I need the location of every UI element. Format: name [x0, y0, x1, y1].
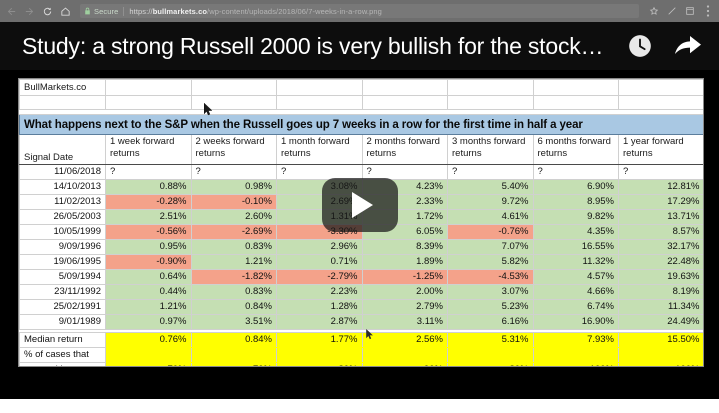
- return-cell-r9-c2: 1.28%: [277, 300, 363, 315]
- column-header-7: 1 year forwardreturns: [619, 135, 705, 165]
- return-cell-r3-c1: 2.60%: [191, 210, 277, 225]
- forward-arrow-icon[interactable]: [23, 5, 36, 18]
- percent-positive-row-line2: are positive70%70%80%90%80%100%100%: [20, 363, 705, 368]
- signal-date: 10/05/1999: [20, 225, 106, 240]
- empty-cell: [362, 80, 448, 96]
- percent-positive-value-3: 90%: [362, 363, 448, 368]
- table-row: 5/09/19940.64%-1.82%-2.79%-1.25%-4.53%4.…: [20, 270, 705, 285]
- return-cell-r0-c4: ?: [448, 165, 534, 180]
- column-header-1: 1 week forwardreturns: [106, 135, 192, 165]
- percent-positive-value-0: 70%: [106, 363, 192, 368]
- return-cell-r4-c1: -2.69%: [191, 225, 277, 240]
- omnibox-divider: [123, 7, 124, 16]
- signal-date: 26/05/2003: [20, 210, 106, 225]
- back-arrow-icon[interactable]: [5, 5, 18, 18]
- median-value-1: 0.84%: [191, 333, 277, 348]
- url-scheme: https://: [129, 7, 152, 16]
- median-value-2: 1.77%: [277, 333, 363, 348]
- return-cell-r0-c1: ?: [191, 165, 277, 180]
- clock-watch-later-icon[interactable]: [627, 33, 653, 59]
- return-cell-r8-c3: 2.00%: [362, 285, 448, 300]
- return-cell-r1-c0: 0.88%: [106, 180, 192, 195]
- return-cell-r1-c1: 0.98%: [191, 180, 277, 195]
- return-cell-r1-c6: 12.81%: [619, 180, 705, 195]
- url-text: https://bullmarkets.co/wp-content/upload…: [129, 7, 382, 16]
- brand-label: BullMarkets.co: [20, 80, 106, 96]
- column-header-6: 6 months forwardreturns: [533, 135, 619, 165]
- play-button[interactable]: [322, 178, 398, 232]
- return-cell-r7-c4: -4.53%: [448, 270, 534, 285]
- return-cell-r6-c3: 1.89%: [362, 255, 448, 270]
- empty-cell: [106, 80, 192, 96]
- return-cell-r0-c6: ?: [619, 165, 705, 180]
- return-cell-r5-c0: 0.95%: [106, 240, 192, 255]
- return-cell-r9-c1: 0.84%: [191, 300, 277, 315]
- return-cell-r4-c4: -0.76%: [448, 225, 534, 240]
- percent-positive-value-2: 80%: [277, 363, 363, 368]
- blank-row: [20, 96, 705, 110]
- percent-spacer-4: [448, 348, 534, 363]
- video-title-bar: Study: a strong Russell 2000 is very bul…: [0, 22, 719, 70]
- table-row: 9/01/19890.97%3.51%2.87%3.11%6.16%16.90%…: [20, 315, 705, 330]
- column-header-4: 2 months forwardreturns: [362, 135, 448, 165]
- return-cell-r10-c1: 3.51%: [191, 315, 277, 330]
- return-cell-r6-c1: 1.21%: [191, 255, 277, 270]
- signal-date: 5/09/1994: [20, 270, 106, 285]
- percent-positive-value-1: 70%: [191, 363, 277, 368]
- return-cell-r8-c6: 8.19%: [619, 285, 705, 300]
- return-cell-r5-c3: 8.39%: [362, 240, 448, 255]
- empty-cell: [191, 80, 277, 96]
- table-title: What happens next to the S&P when the Ru…: [20, 115, 705, 135]
- percent-positive-value-4: 80%: [448, 363, 534, 368]
- percent-spacer-3: [362, 348, 448, 363]
- return-cell-r4-c5: 4.35%: [533, 225, 619, 240]
- table-row: 23/11/19920.44%0.83%2.23%2.00%3.07%4.66%…: [20, 285, 705, 300]
- column-header-2: 2 weeks forwardreturns: [191, 135, 277, 165]
- return-cell-r9-c4: 5.23%: [448, 300, 534, 315]
- percent-spacer-2: [277, 348, 363, 363]
- empty-cell: [619, 80, 705, 96]
- return-cell-r9-c5: 6.74%: [533, 300, 619, 315]
- return-cell-r6-c0: -0.90%: [106, 255, 192, 270]
- signal-date: 25/02/1991: [20, 300, 106, 315]
- median-value-0: 0.76%: [106, 333, 192, 348]
- median-value-4: 5.31%: [448, 333, 534, 348]
- column-header-5: 3 months forwardreturns: [448, 135, 534, 165]
- star-bookmark-icon[interactable]: [648, 5, 660, 17]
- signal-date: 9/01/1989: [20, 315, 106, 330]
- return-cell-r2-c0: -0.28%: [106, 195, 192, 210]
- return-cell-r7-c1: -1.82%: [191, 270, 277, 285]
- empty-cell: [619, 96, 705, 110]
- return-cell-r2-c5: 8.95%: [533, 195, 619, 210]
- return-cell-r7-c6: 19.63%: [619, 270, 705, 285]
- address-bar[interactable]: Secure https://bullmarkets.co/wp-content…: [80, 4, 639, 18]
- return-cell-r3-c6: 13.71%: [619, 210, 705, 225]
- return-cell-r8-c2: 2.23%: [277, 285, 363, 300]
- share-arrow-icon[interactable]: [673, 33, 703, 59]
- return-cell-r8-c5: 4.66%: [533, 285, 619, 300]
- empty-cell: [277, 96, 363, 110]
- return-cell-r10-c6: 24.49%: [619, 315, 705, 330]
- return-cell-r1-c4: 5.40%: [448, 180, 534, 195]
- return-cell-r10-c5: 16.90%: [533, 315, 619, 330]
- youtube-video-page: Secure https://bullmarkets.co/wp-content…: [0, 0, 719, 413]
- return-cell-r7-c2: -2.79%: [277, 270, 363, 285]
- column-header-0: Signal Date: [20, 135, 106, 165]
- return-cell-r5-c2: 2.96%: [277, 240, 363, 255]
- median-value-5: 7.93%: [533, 333, 619, 348]
- return-cell-r1-c5: 6.90%: [533, 180, 619, 195]
- empty-cell: [20, 96, 106, 110]
- percent-spacer-0: [106, 348, 192, 363]
- signal-date: 9/09/1996: [20, 240, 106, 255]
- table-row: 19/06/1995-0.90%1.21%0.71%1.89%5.82%11.3…: [20, 255, 705, 270]
- return-cell-r5-c1: 0.83%: [191, 240, 277, 255]
- signal-date: 14/10/2013: [20, 180, 106, 195]
- return-cell-r2-c1: -0.10%: [191, 195, 277, 210]
- return-cell-r5-c6: 32.17%: [619, 240, 705, 255]
- table-title-row: What happens next to the S&P when the Ru…: [20, 115, 705, 135]
- table-row: 9/09/19960.95%0.83%2.96%8.39%7.07%16.55%…: [20, 240, 705, 255]
- percent-spacer-1: [191, 348, 277, 363]
- return-cell-r4-c0: -0.56%: [106, 225, 192, 240]
- lock-icon: [84, 4, 91, 18]
- frame-left-edge: [0, 70, 18, 399]
- median-value-6: 15.50%: [619, 333, 705, 348]
- median-return-label: Median return: [20, 333, 106, 348]
- return-cell-r6-c4: 5.82%: [448, 255, 534, 270]
- return-cell-r0-c0: ?: [106, 165, 192, 180]
- empty-cell: [448, 96, 534, 110]
- column-header-3: 1 month forwardreturns: [277, 135, 363, 165]
- empty-cell: [448, 80, 534, 96]
- secure-label: Secure: [94, 7, 118, 16]
- return-cell-r10-c2: 2.87%: [277, 315, 363, 330]
- percent-positive-label-line2: are positive: [20, 363, 106, 368]
- return-cell-r10-c0: 0.97%: [106, 315, 192, 330]
- three-dot-menu-icon[interactable]: [702, 5, 714, 17]
- empty-cell: [277, 80, 363, 96]
- empty-cell: [191, 96, 277, 110]
- video-actions: [613, 33, 703, 59]
- signal-date: 11/06/2018: [20, 165, 106, 180]
- video-title: Study: a strong Russell 2000 is very bul…: [22, 33, 613, 60]
- empty-cell: [533, 96, 619, 110]
- return-cell-r8-c1: 0.83%: [191, 285, 277, 300]
- return-cell-r2-c4: 9.72%: [448, 195, 534, 210]
- empty-cell: [362, 96, 448, 110]
- url-host: bullmarkets.co: [153, 7, 207, 16]
- percent-spacer-6: [619, 348, 705, 363]
- page-bottom-strip: [0, 399, 719, 413]
- return-cell-r3-c4: 4.61%: [448, 210, 534, 225]
- reload-icon[interactable]: [41, 5, 54, 18]
- percent-positive-value-6: 100%: [619, 363, 705, 368]
- return-cell-r3-c0: 2.51%: [106, 210, 192, 225]
- return-cell-r9-c6: 11.34%: [619, 300, 705, 315]
- brand-row: BullMarkets.co: [20, 80, 705, 96]
- return-cell-r7-c0: 0.64%: [106, 270, 192, 285]
- percent-positive-label-line1: % of cases that: [20, 348, 106, 363]
- return-cell-r6-c2: 0.71%: [277, 255, 363, 270]
- return-cell-r6-c5: 11.32%: [533, 255, 619, 270]
- url-path: /wp-content/uploads/2018/06/7-weeks-in-a…: [207, 7, 382, 16]
- signal-date: 19/06/1995: [20, 255, 106, 270]
- return-cell-r5-c5: 16.55%: [533, 240, 619, 255]
- new-window-icon[interactable]: [684, 5, 696, 17]
- return-cell-r10-c3: 3.11%: [362, 315, 448, 330]
- pencil-edit-icon[interactable]: [666, 5, 678, 17]
- return-cell-r7-c5: 4.57%: [533, 270, 619, 285]
- percent-positive-row-line1: % of cases that: [20, 348, 705, 363]
- median-return-row: Median return0.76%0.84%1.77%2.56%5.31%7.…: [20, 333, 705, 348]
- percent-positive-value-5: 100%: [533, 363, 619, 368]
- return-cell-r9-c3: 2.79%: [362, 300, 448, 315]
- percent-spacer-5: [533, 348, 619, 363]
- median-value-3: 2.56%: [362, 333, 448, 348]
- table-row: 25/02/19911.21%0.84%1.28%2.79%5.23%6.74%…: [20, 300, 705, 315]
- return-cell-r2-c6: 17.29%: [619, 195, 705, 210]
- signal-date: 11/02/2013: [20, 195, 106, 210]
- browser-action-icons: [644, 5, 714, 17]
- return-cell-r7-c3: -1.25%: [362, 270, 448, 285]
- signal-date: 23/11/1992: [20, 285, 106, 300]
- play-triangle-icon: [352, 192, 373, 218]
- return-cell-r0-c5: ?: [533, 165, 619, 180]
- empty-cell: [533, 80, 619, 96]
- return-cell-r3-c5: 9.82%: [533, 210, 619, 225]
- return-cell-r4-c6: 8.57%: [619, 225, 705, 240]
- empty-cell: [106, 96, 192, 110]
- return-cell-r9-c0: 1.21%: [106, 300, 192, 315]
- browser-toolbar: Secure https://bullmarkets.co/wp-content…: [0, 0, 719, 22]
- table-header-row: Signal Date1 week forwardreturns2 weeks …: [20, 135, 705, 165]
- return-cell-r5-c4: 7.07%: [448, 240, 534, 255]
- return-cell-r6-c6: 22.48%: [619, 255, 705, 270]
- return-cell-r8-c4: 3.07%: [448, 285, 534, 300]
- return-cell-r10-c4: 6.16%: [448, 315, 534, 330]
- return-cell-r8-c0: 0.44%: [106, 285, 192, 300]
- home-icon[interactable]: [59, 5, 72, 18]
